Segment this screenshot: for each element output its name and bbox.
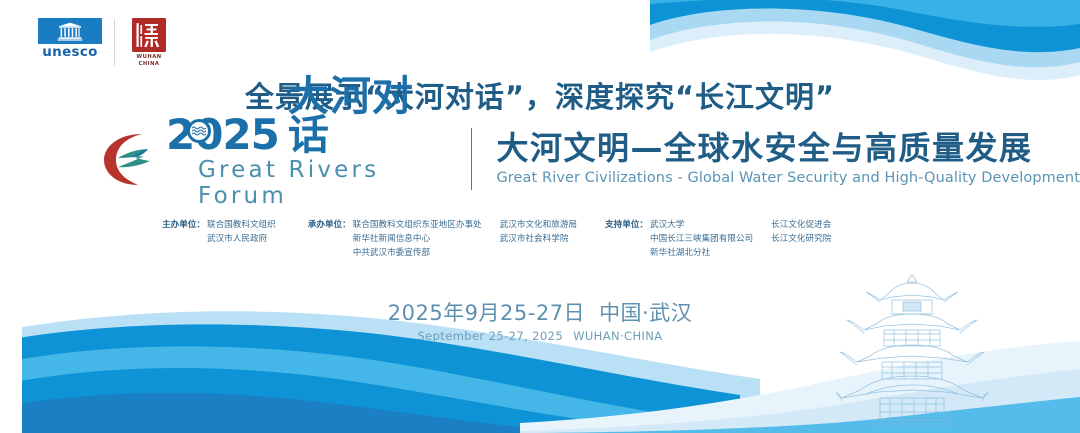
yellow-crane-tower-illustration — [836, 272, 988, 427]
organizer-label: 支持单位： — [605, 219, 648, 233]
organizer-group-support: 支持单位： 武汉大学 中国长江三峡集团有限公司 新华社湖北分社 长江文化促进会 … — [605, 219, 831, 261]
theme-cn: 大河文明—全球水安全与高质量发展 — [496, 132, 1080, 166]
logo-bar: unesco — [38, 18, 171, 68]
organizer-column: 长江文化促进会 长江文化研究院 — [771, 219, 831, 247]
brand-name-cn: 大河对话 — [288, 77, 449, 155]
unesco-temple-glyph — [57, 22, 83, 41]
poster-banner: unesco — [0, 0, 1080, 433]
organizer-entry: 武汉市社会科学院 — [500, 234, 569, 244]
organizer-entry: 武汉市人民政府 — [207, 234, 267, 244]
wuhan-word-line2: CHINA — [139, 61, 160, 67]
organizer-group-host: 主办单位： 联合国教科文组织 武汉市人民政府 — [162, 219, 276, 247]
event-date-en: September 25-27, 2025 — [417, 329, 563, 343]
organizer-entry: 新华社新闻信息中心 — [353, 234, 430, 244]
brand-year-text: 2025 — [166, 110, 279, 159]
organizer-entry: 联合国教科文组织东亚地区办事处 — [353, 220, 482, 230]
unesco-temple-icon — [38, 18, 102, 44]
wuhan-china-logo: WUHAN CHINA — [127, 18, 171, 68]
theme-en: Great River Civilizations - Global Water… — [496, 170, 1080, 186]
logo-divider — [114, 19, 115, 66]
brand-text: 2025 大河对话 Great Rivers Forum — [166, 109, 449, 209]
organizer-entry: 长江文化促进会 — [771, 220, 831, 230]
wuhan-word-line1: WUHAN — [136, 54, 161, 60]
poster-headline: 全景展示“大河对话”，深度探究“长江文明” — [0, 74, 1080, 116]
brand-lockup: 2025 大河对话 Great Rivers Forum 大河文明—全球水安全与… — [98, 122, 1080, 196]
organizer-column: 联合国教科文组织东亚地区办事处 新华社新闻信息中心 中共武汉市委宣传部 — [353, 219, 482, 261]
brand-name-en: Great Rivers Forum — [198, 157, 449, 209]
lockup-divider — [471, 128, 473, 190]
organizer-group-organizer: 承办单位： 联合国教科文组织东亚地区办事处 新华社新闻信息中心 中共武汉市委宣传… — [308, 219, 577, 261]
great-rivers-forum-mark-icon — [98, 127, 162, 191]
event-location-en: WUHAN·CHINA — [573, 329, 663, 343]
organizer-column: 联合国教科文组织 武汉市人民政府 — [207, 219, 276, 247]
organizer-entry: 中共武汉市委宣传部 — [353, 248, 430, 258]
organizer-column: 武汉市文化和旅游局 武汉市社会科学院 — [500, 219, 577, 247]
unesco-logo: unesco — [38, 18, 102, 60]
organizer-label: 主办单位： — [162, 219, 205, 233]
brand-year: 2025 — [166, 115, 279, 155]
organizer-label: 承办单位： — [308, 219, 351, 233]
organizer-entry: 武汉市文化和旅游局 — [500, 220, 577, 230]
organizer-entry: 中国长江三峡集团有限公司 — [650, 234, 753, 244]
organizer-credits: 主办单位： 联合国教科文组织 武汉市人民政府 承办单位： 联合国教科文组织东亚地… — [162, 219, 831, 261]
organizer-entry: 长江文化研究院 — [771, 234, 831, 244]
organizer-entry: 新华社湖北分社 — [650, 248, 710, 258]
organizer-entry: 联合国教科文组织 — [207, 220, 276, 230]
wuhan-seal-icon — [132, 18, 166, 52]
event-location-cn: 中国·武汉 — [599, 301, 692, 325]
theme-block: 大河文明—全球水安全与高质量发展 Great River Civilizatio… — [496, 132, 1080, 186]
water-ripple-icon — [187, 119, 211, 143]
wuhan-china-wordmark: WUHAN CHINA — [136, 54, 161, 68]
unesco-wordmark: unesco — [42, 46, 98, 60]
event-date-cn: 2025年9月25-27日 — [388, 301, 585, 325]
organizer-column: 武汉大学 中国长江三峡集团有限公司 新华社湖北分社 — [650, 219, 753, 261]
organizer-entry: 武汉大学 — [650, 220, 684, 230]
wave-decoration-left-edge — [0, 0, 22, 433]
brand-cn-row: 2025 大河对话 — [166, 109, 449, 155]
